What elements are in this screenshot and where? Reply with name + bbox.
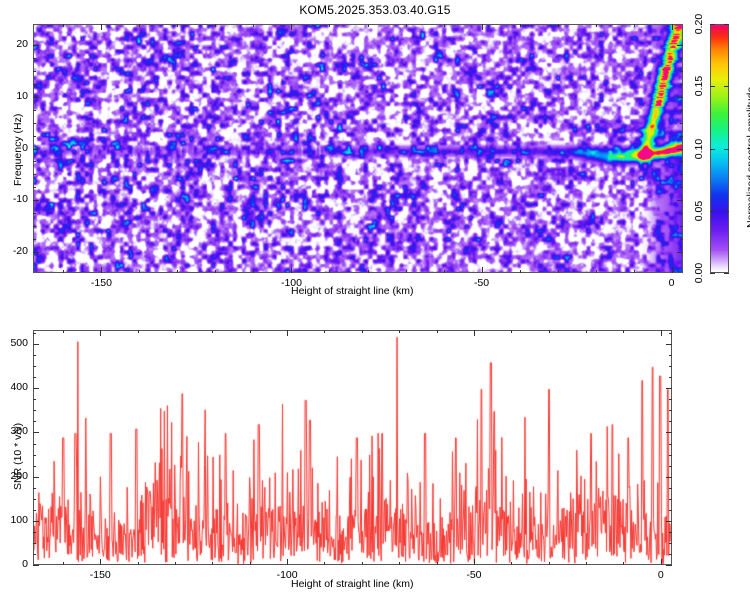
spectrogram-ytick-minor (33, 84, 36, 85)
snr-xtick-minor-top (250, 330, 251, 333)
snr-ytick-minor (33, 499, 36, 500)
spectrogram-ytick-minor-right (680, 58, 683, 59)
spectrogram-xtick-minor (406, 270, 407, 273)
snr-ytick-minor-right (669, 488, 672, 489)
snr-xtick-minor (250, 562, 251, 565)
spectrogram-xtick (101, 267, 102, 273)
spectrogram-ytick-minor-right (680, 97, 683, 98)
snr-ytick-minor (33, 366, 36, 367)
snr-xtick (287, 559, 288, 565)
snr-ytick-minor (33, 532, 36, 533)
spectrogram-xtick-minor (558, 270, 559, 273)
snr-xtick-minor (175, 562, 176, 565)
snr-ytick (33, 344, 39, 345)
spectrogram-xtick-top (291, 24, 292, 30)
snr-xtick (474, 559, 475, 565)
snr-ytick-minor-right (669, 421, 672, 422)
snr-ytick-minor-right (669, 554, 672, 555)
snr-xtick-minor (362, 562, 363, 565)
spectrogram-ytick-minor-right (680, 149, 683, 150)
spectrogram-yticklabel: 0 (1, 142, 28, 154)
spectrogram-xtick-minor (63, 270, 64, 273)
snr-yticklabel: 0 (1, 558, 28, 570)
snr-ytick-minor (33, 410, 36, 411)
spectrogram-xticklabel: -50 (464, 277, 500, 289)
snr-xtick-minor (511, 562, 512, 565)
snr-xtick-minor (623, 562, 624, 565)
snr-xtick-minor (324, 562, 325, 565)
spectrogram-xtick-minor-top (63, 24, 64, 27)
colorbar-tick (710, 24, 715, 25)
colorbar-ticklabel: 0.15 (693, 76, 705, 96)
spectrogram-xtick-minor (177, 270, 178, 273)
snr-xtick-minor-top (324, 330, 325, 333)
snr-ytick-minor-right (669, 510, 672, 511)
snr-ytick-minor (33, 554, 36, 555)
snr-xticklabel: -100 (269, 569, 305, 581)
snr-xtick-minor-top (175, 330, 176, 333)
snr-ytick-minor (33, 421, 36, 422)
snr-ytick-right (666, 432, 672, 433)
snr-xtick-minor (549, 562, 550, 565)
spectrogram-xtick-minor-top (215, 24, 216, 27)
colorbar-tick-right (724, 149, 729, 150)
snr-ytick-minor-right (669, 444, 672, 445)
snr-xtick-top (100, 330, 101, 336)
colorbar-ticklabel: 0.00 (693, 263, 705, 283)
figure-title: KOM5.2025.353.03.40.G15 (0, 3, 750, 17)
colorbar-tick-right (724, 86, 729, 87)
spectrogram-xtick-minor-top (253, 24, 254, 27)
spectrogram-ytick-minor-right (680, 161, 683, 162)
snr-ytick-minor-right (669, 410, 672, 411)
snr-ytick-minor (33, 333, 36, 334)
spectrogram-xtick-minor (444, 270, 445, 273)
spectrogram-ytick-minor-right (680, 174, 683, 175)
spectrogram-xtick-minor-top (520, 24, 521, 27)
spectrogram-ytick-minor-right (680, 45, 683, 46)
spectrogram-xtick-minor-top (329, 24, 330, 27)
snr-xtick-minor (63, 562, 64, 565)
colorbar-ticklabel: 0.05 (693, 201, 705, 221)
spectrogram-ytick-minor (33, 110, 36, 111)
snr-xtick (661, 559, 662, 565)
snr-ytick-minor-right (669, 355, 672, 356)
snr-axes (33, 330, 672, 565)
spectrogram-xtick-minor-top (596, 24, 597, 27)
spectrogram-xtick-minor-top (406, 24, 407, 27)
snr-xtick-minor (138, 562, 139, 565)
spectrogram-xtick-top (672, 24, 673, 30)
snr-xtick-minor (212, 562, 213, 565)
spectrogram-ytick-minor-right (680, 213, 683, 214)
colorbar-tick (710, 86, 715, 87)
snr-ytick-minor (33, 377, 36, 378)
spectrogram-xtick-minor-top (368, 24, 369, 27)
snr-ytick (33, 565, 39, 566)
snr-ytick-minor (33, 543, 36, 544)
spectrogram-xticklabel: -100 (273, 277, 309, 289)
snr-ytick-minor (33, 510, 36, 511)
spectrogram-image (34, 25, 683, 273)
snr-xtick-minor-top (511, 330, 512, 333)
snr-ytick-minor-right (669, 377, 672, 378)
spectrogram-xtick (291, 267, 292, 273)
spectrogram-xtick-top (101, 24, 102, 30)
snr-ytick (33, 388, 39, 389)
spectrogram-xtick-minor (139, 270, 140, 273)
spectrogram-ytick-minor (33, 213, 36, 214)
snr-yticklabel: 200 (1, 470, 28, 482)
spectrogram-ytick-minor-right (680, 252, 683, 253)
snr-ytick (33, 432, 39, 433)
spectrogram-xtick-minor-top (444, 24, 445, 27)
spectrogram-ytick-minor-right (680, 200, 683, 201)
snr-ytick-minor (33, 444, 36, 445)
spectrogram-ytick-minor (33, 252, 36, 253)
spectrogram-yticklabel: -10 (1, 193, 28, 205)
snr-xticklabel: -50 (456, 569, 492, 581)
snr-ytick-right (666, 344, 672, 345)
snr-ytick-right (666, 477, 672, 478)
snr-ytick-minor-right (669, 455, 672, 456)
snr-ytick-minor-right (669, 466, 672, 467)
spectrogram-ytick-minor (33, 226, 36, 227)
snr-xtick-minor (399, 562, 400, 565)
snr-ytick-minor-right (669, 366, 672, 367)
snr-xtick-minor-top (63, 330, 64, 333)
snr-ytick-minor (33, 488, 36, 489)
spectrogram-xtick (672, 267, 673, 273)
spectrogram-ytick-minor (33, 71, 36, 72)
snr-xtick-minor (586, 562, 587, 565)
spectrogram-ytick-minor (33, 161, 36, 162)
snr-trace (34, 331, 672, 565)
snr-ytick-minor (33, 355, 36, 356)
spectrogram-xticklabel: 0 (654, 277, 690, 289)
snr-ytick-minor-right (669, 333, 672, 334)
spectrogram-ytick-minor-right (680, 226, 683, 227)
snr-xticklabel: -150 (82, 569, 118, 581)
colorbar-tick-right (724, 24, 729, 25)
spectrogram-xtick-minor-top (139, 24, 140, 27)
snr-ytick-right (666, 565, 672, 566)
snr-xtick-minor-top (399, 330, 400, 333)
snr-yticklabel: 400 (1, 381, 28, 393)
spectrogram-ytick-minor-right (680, 136, 683, 137)
colorbar-tick-right (724, 273, 729, 274)
snr-yticklabel: 300 (1, 425, 28, 437)
snr-ytick (33, 521, 39, 522)
snr-xtick-minor-top (549, 330, 550, 333)
spectrogram-xtick-minor (634, 270, 635, 273)
snr-xtick-top (474, 330, 475, 336)
snr-ytick-minor-right (669, 532, 672, 533)
spectrogram-ytick-minor (33, 239, 36, 240)
snr-xticklabel: 0 (643, 569, 679, 581)
snr-ytick-right (666, 388, 672, 389)
spectrogram-xtick-minor (520, 270, 521, 273)
spectrogram-yticklabel: 10 (1, 90, 28, 102)
spectrogram-ytick-minor-right (680, 187, 683, 188)
spectrogram-ytick-minor (33, 58, 36, 59)
colorbar-ticklabel: 0.10 (693, 138, 705, 158)
spectrogram-ytick-minor-right (680, 123, 683, 124)
colorbar-tick-right (724, 211, 729, 212)
snr-ytick-minor-right (669, 399, 672, 400)
colorbar-label: Normalized spectral amplitude (745, 87, 750, 228)
spectrogram-xticklabel: -150 (83, 277, 119, 289)
spectrogram-xtick-minor-top (634, 24, 635, 27)
snr-yticklabel: 500 (1, 337, 28, 349)
spectrogram-ytick-minor-right (680, 239, 683, 240)
spectrogram-xtick-minor (215, 270, 216, 273)
spectrogram-ytick-minor (33, 136, 36, 137)
spectrogram-ytick-minor (33, 97, 36, 98)
figure-root: KOM5.2025.353.03.40.G15 Frequency (Hz) H… (0, 0, 750, 600)
snr-xtick-minor-top (586, 330, 587, 333)
snr-ytick-right (666, 521, 672, 522)
spectrogram-axes (33, 24, 683, 273)
snr-ytick-minor-right (669, 499, 672, 500)
colorbar-tick (710, 149, 715, 150)
snr-xtick (100, 559, 101, 565)
colorbar-tick (710, 211, 715, 212)
snr-ytick-minor-right (669, 543, 672, 544)
colorbar-tick (710, 273, 715, 274)
snr-ytick (33, 477, 39, 478)
spectrogram-ytick-minor (33, 123, 36, 124)
spectrogram-ytick-minor-right (680, 84, 683, 85)
snr-ytick-minor (33, 399, 36, 400)
snr-ytick-minor (33, 455, 36, 456)
snr-xtick-top (661, 330, 662, 336)
spectrogram-ytick-minor (33, 187, 36, 188)
spectrogram-yticklabel: -20 (1, 245, 28, 257)
spectrogram-ytick-minor-right (680, 110, 683, 111)
spectrogram-yticklabel: 20 (1, 38, 28, 50)
colorbar-ticklabel: 0.20 (693, 14, 705, 34)
spectrogram-ytick-minor (33, 174, 36, 175)
snr-xtick-minor-top (437, 330, 438, 333)
spectrogram-xtick-minor (596, 270, 597, 273)
spectrogram-xtick-minor (329, 270, 330, 273)
snr-xtick-minor-top (212, 330, 213, 333)
spectrogram-ytick-minor (33, 149, 36, 150)
snr-xtick-minor-top (623, 330, 624, 333)
spectrogram-ytick-minor (33, 200, 36, 201)
spectrogram-xtick-minor (253, 270, 254, 273)
snr-xlabel: Height of straight line (km) (291, 578, 414, 590)
spectrogram-xtick-minor (368, 270, 369, 273)
spectrogram-ytick-minor-right (680, 71, 683, 72)
snr-ytick-minor (33, 466, 36, 467)
snr-xtick-minor-top (138, 330, 139, 333)
spectrogram-ytick-minor (33, 45, 36, 46)
snr-xtick-minor-top (362, 330, 363, 333)
spectrogram-xtick-minor-top (177, 24, 178, 27)
snr-yticklabel: 100 (1, 514, 28, 526)
snr-xtick-minor (437, 562, 438, 565)
spectrogram-xtick-top (482, 24, 483, 30)
spectrogram-xtick (482, 267, 483, 273)
snr-xtick-top (287, 330, 288, 336)
spectrogram-xtick-minor-top (558, 24, 559, 27)
